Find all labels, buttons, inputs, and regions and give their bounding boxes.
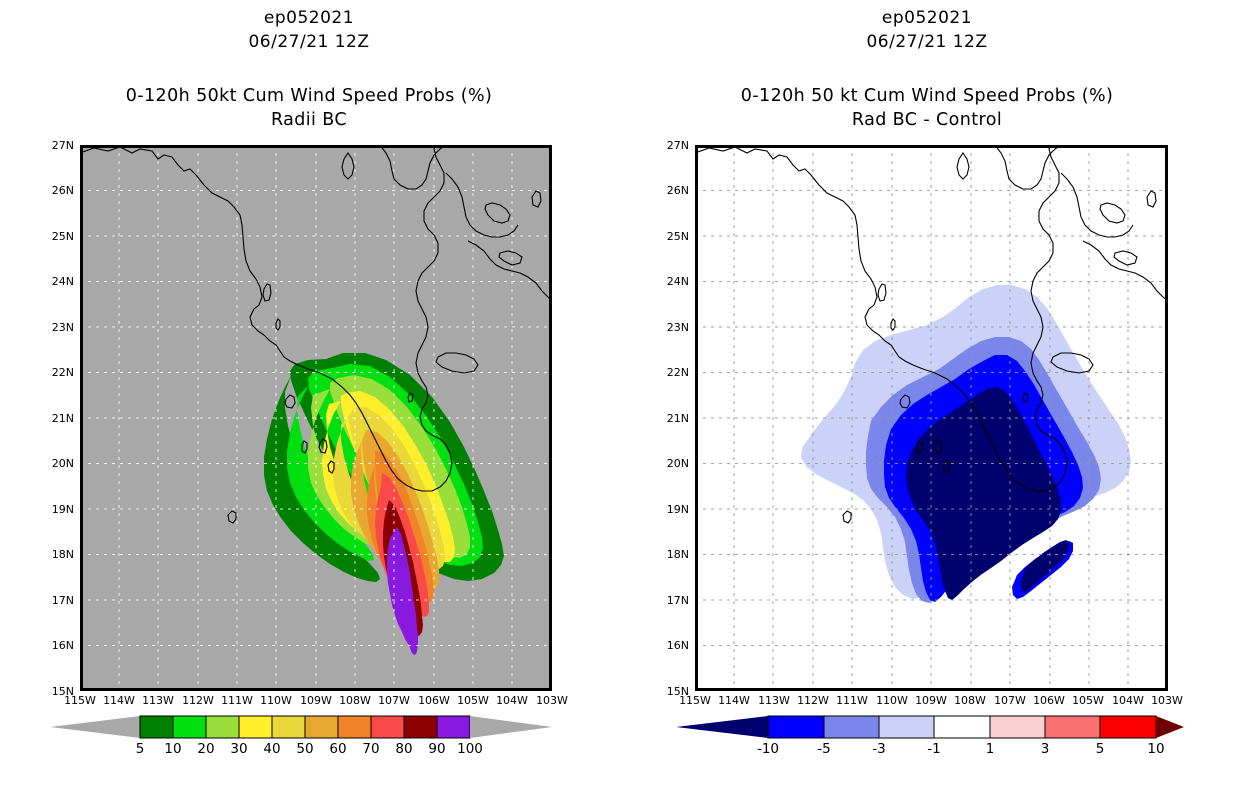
left-colorbar-swatch-80-90 [404, 716, 437, 738]
left-colorbar[interactable] [40, 714, 560, 740]
left-colorbar-under-arrow [50, 716, 140, 738]
right-colorbar-label-m5: -5 [804, 741, 844, 757]
right-plot-frame [695, 145, 1168, 691]
left-colorbar-swatch-60-70 [338, 716, 371, 738]
left-ylabel-24N: 24N [34, 275, 74, 288]
right-xlabel-109W: 109W [911, 694, 951, 707]
left-xlabel-103W: 103W [532, 694, 572, 707]
right-xlabel-115W: 115W [675, 694, 715, 707]
left-ylabel-17N: 17N [34, 594, 74, 607]
left-colorbar-labels: 5 10 20 30 40 50 60 70 80 90 100 [40, 741, 560, 761]
left-colorbar-svg [40, 714, 560, 740]
left-storm-id: ep052021 [0, 8, 618, 28]
right-ylabel-17N: 17N [649, 594, 689, 607]
left-ylabel-25N: 25N [34, 230, 74, 243]
right-colorbar-labels: -10 -5 -3 -1 1 3 5 10 [650, 741, 1190, 761]
left-ylabel-16N: 16N [34, 639, 74, 652]
right-xlabel-112W: 112W [793, 694, 833, 707]
left-colorbar-swatch-70-80 [371, 716, 404, 738]
right-colorbar-label-m1: -1 [914, 741, 954, 757]
left-ylabel-20N: 20N [34, 457, 74, 470]
left-xlabel-108W: 108W [335, 694, 375, 707]
right-ylabel-24N: 24N [649, 275, 689, 288]
right-colorbar-label-m10: -10 [748, 741, 788, 757]
left-xlabel-110W: 110W [256, 694, 296, 707]
right-ylabel-23N: 23N [649, 321, 689, 334]
left-title: 0-120h 50kt Cum Wind Speed Probs (%) [0, 86, 618, 106]
left-colorbar-over-arrow [470, 716, 552, 738]
right-xlabel-110W: 110W [872, 694, 912, 707]
right-colorbar-label-5: 5 [1080, 741, 1120, 757]
right-ylabel-18N: 18N [649, 548, 689, 561]
panel-radii-bc: ep052021 06/27/21 12Z 0-120h 50kt Cum Wi… [0, 0, 618, 800]
left-map-plot[interactable] [80, 145, 552, 691]
right-colorbar-swatch-3-5 [1045, 716, 1100, 738]
left-ylabel-18N: 18N [34, 548, 74, 561]
right-ylabel-27N: 27N [649, 139, 689, 152]
left-xlabel-105W: 105W [453, 694, 493, 707]
left-plot-frame [80, 145, 552, 691]
right-ylabel-16N: 16N [649, 639, 689, 652]
right-xlabel-114W: 114W [714, 694, 754, 707]
right-xlabel-111W: 111W [832, 694, 872, 707]
right-colorbar-label-10: 10 [1136, 741, 1176, 757]
left-colorbar-swatch-5-10 [140, 716, 173, 738]
left-ylabel-23N: 23N [34, 321, 74, 334]
right-colorbar-label-3: 3 [1025, 741, 1065, 757]
right-title: 0-120h 50 kt Cum Wind Speed Probs (%) [618, 86, 1236, 106]
right-xlabel-104W: 104W [1108, 694, 1148, 707]
left-colorbar-swatch-90-100 [437, 716, 470, 738]
left-subtitle: Radii BC [0, 110, 618, 130]
left-xlabel-112W: 112W [178, 694, 218, 707]
right-colorbar-swatch-m1-1 [934, 716, 990, 738]
right-subtitle: Rad BC - Control [618, 110, 1236, 130]
right-xlabel-113W: 113W [754, 694, 794, 707]
right-xlabel-107W: 107W [990, 694, 1030, 707]
right-xlabel-103W: 103W [1147, 694, 1187, 707]
right-ylabel-22N: 22N [649, 366, 689, 379]
left-ylabel-22N: 22N [34, 366, 74, 379]
left-xlabel-111W: 111W [217, 694, 257, 707]
left-ylabel-26N: 26N [34, 184, 74, 197]
right-colorbar-swatch-5-10 [1100, 716, 1156, 738]
right-colorbar-under-arrow [676, 716, 768, 738]
right-colorbar-label-1: 1 [970, 741, 1010, 757]
right-ylabel-19N: 19N [649, 503, 689, 516]
left-xlabel-107W: 107W [374, 694, 414, 707]
left-colorbar-swatch-10-20 [173, 716, 206, 738]
right-colorbar-over-arrow [1156, 716, 1184, 738]
right-ylabel-25N: 25N [649, 230, 689, 243]
left-colorbar-swatch-40-50 [272, 716, 305, 738]
left-xlabel-115W: 115W [60, 694, 100, 707]
right-ylabel-21N: 21N [649, 412, 689, 425]
right-colorbar-svg [650, 714, 1190, 740]
left-datetime: 06/27/21 12Z [0, 32, 618, 52]
left-ylabel-27N: 27N [34, 139, 74, 152]
left-colorbar-swatch-50-60 [305, 716, 338, 738]
right-xlabel-105W: 105W [1068, 694, 1108, 707]
left-colorbar-swatch-20-30 [206, 716, 239, 738]
left-ylabel-19N: 19N [34, 503, 74, 516]
right-colorbar-label-m3: -3 [859, 741, 899, 757]
left-xlabel-109W: 109W [296, 694, 336, 707]
right-colorbar-swatch-m3-m1 [879, 716, 934, 738]
right-storm-id: ep052021 [618, 8, 1236, 28]
right-xlabel-108W: 108W [950, 694, 990, 707]
right-colorbar-swatch-m10-m5 [768, 716, 824, 738]
left-xlabel-106W: 106W [414, 694, 454, 707]
chart-page: ep052021 06/27/21 12Z 0-120h 50kt Cum Wi… [0, 0, 1236, 800]
panel-rad-bc-control: ep052021 06/27/21 12Z 0-120h 50 kt Cum W… [618, 0, 1236, 800]
right-ylabel-20N: 20N [649, 457, 689, 470]
right-map-plot[interactable] [695, 145, 1168, 691]
left-xlabel-104W: 104W [492, 694, 532, 707]
right-colorbar[interactable] [650, 714, 1190, 740]
right-colorbar-swatch-m5-m3 [824, 716, 879, 738]
left-colorbar-swatch-30-40 [239, 716, 272, 738]
left-xlabel-114W: 114W [99, 694, 139, 707]
left-ylabel-21N: 21N [34, 412, 74, 425]
right-ylabel-26N: 26N [649, 184, 689, 197]
left-xlabel-113W: 113W [138, 694, 178, 707]
right-datetime: 06/27/21 12Z [618, 32, 1236, 52]
right-xlabel-106W: 106W [1029, 694, 1069, 707]
left-colorbar-label-100: 100 [450, 741, 490, 757]
right-colorbar-swatch-1-3 [990, 716, 1045, 738]
